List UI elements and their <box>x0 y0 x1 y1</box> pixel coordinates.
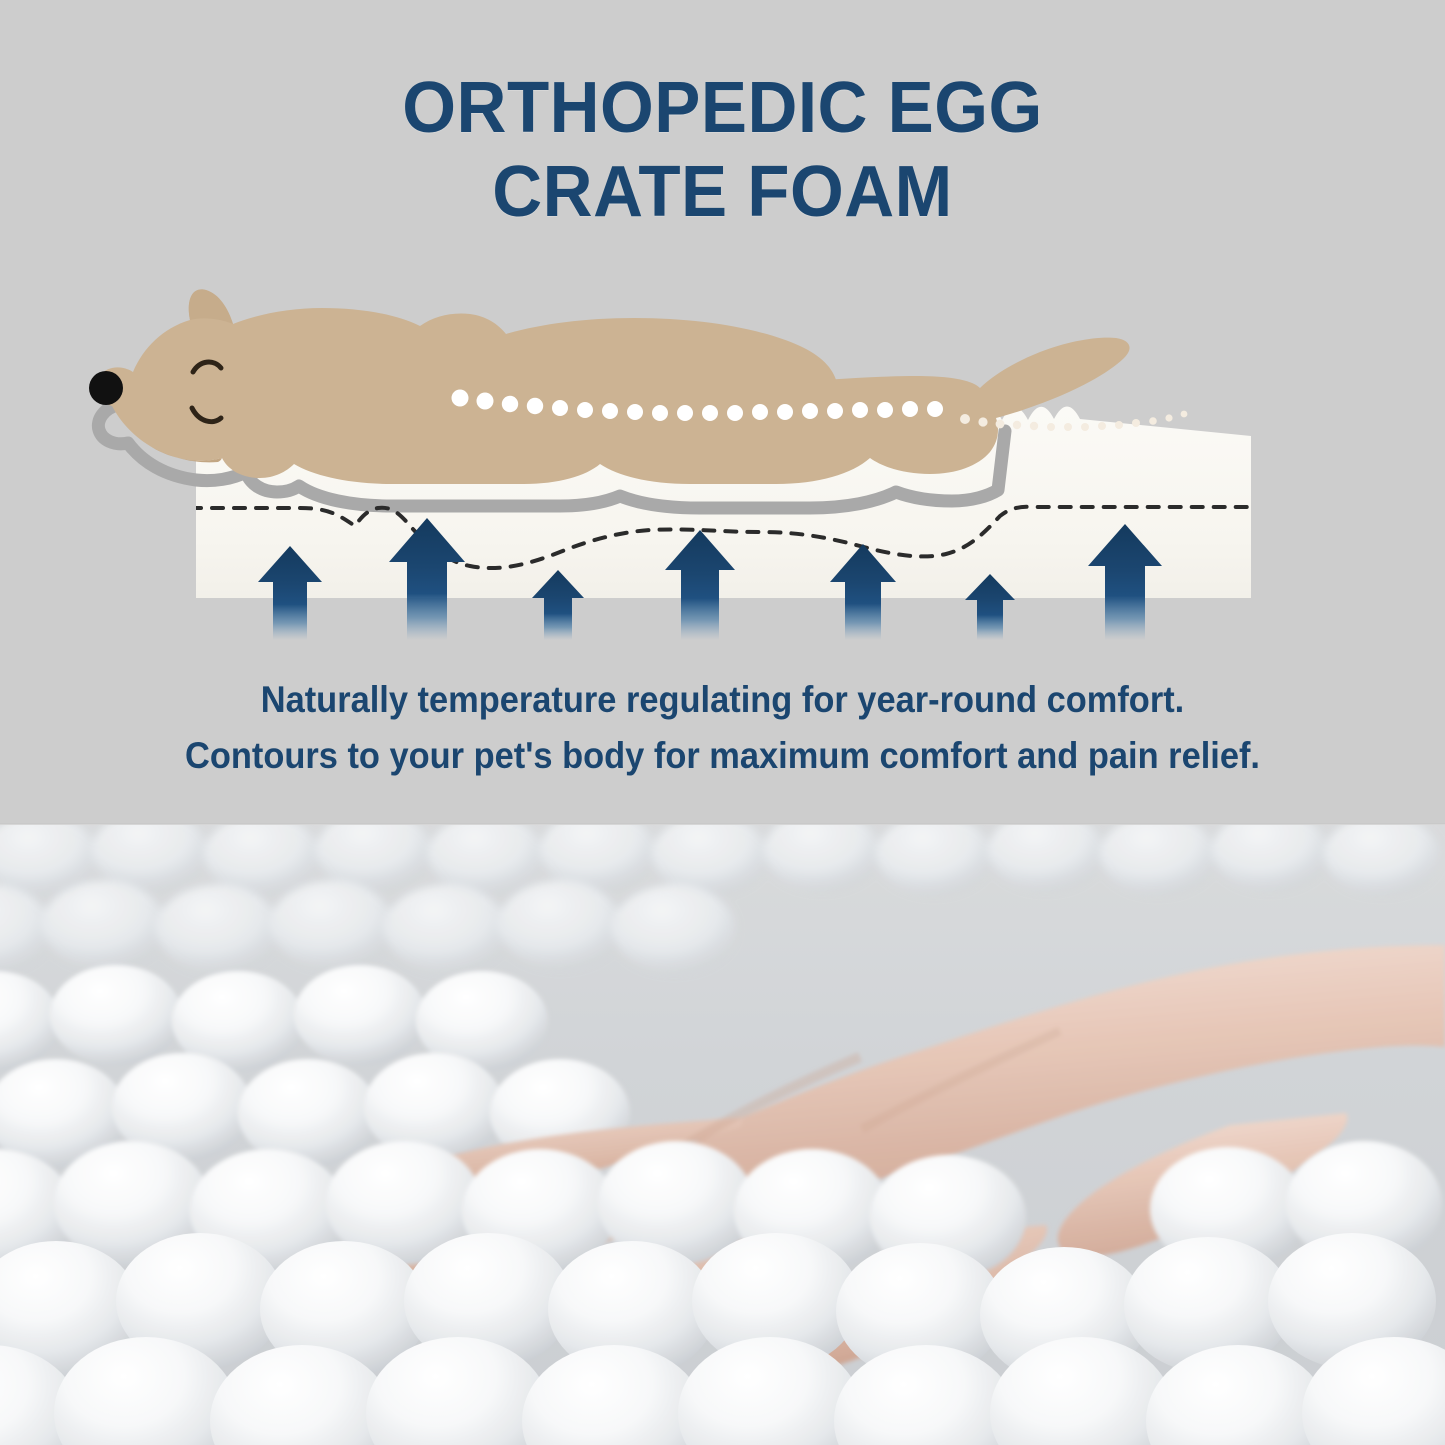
product-infographic: ORTHOPEDIC EGG CRATE FOAM <box>0 0 1445 1445</box>
caption-line-1: Naturally temperature regulating for yea… <box>51 672 1395 728</box>
feature-captions: Naturally temperature regulating for yea… <box>0 672 1445 784</box>
dog-foam-diagram <box>0 280 1445 660</box>
dog-nose <box>89 371 123 405</box>
page-title: ORTHOPEDIC EGG CRATE FOAM <box>29 66 1416 234</box>
hand-on-foam-photo <box>0 825 1445 1445</box>
caption-line-2: Contours to your pet's body for maximum … <box>51 728 1395 784</box>
top-illustration-panel: ORTHOPEDIC EGG CRATE FOAM <box>0 0 1445 825</box>
dog-body <box>95 289 1129 484</box>
foam-photo-panel <box>0 825 1445 1445</box>
